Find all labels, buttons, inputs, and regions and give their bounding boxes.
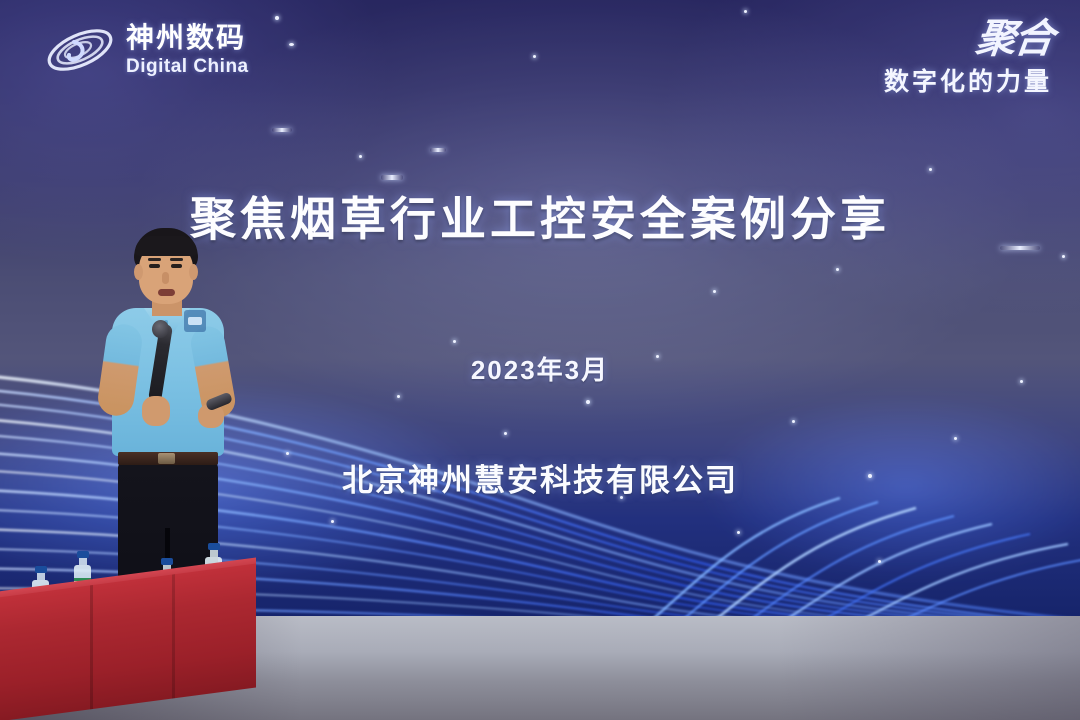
hair-front [135, 236, 197, 256]
right-eye [171, 264, 182, 268]
event-calligraphy: 聚合 [882, 20, 1055, 58]
nose [162, 272, 169, 284]
belt-buckle [158, 453, 175, 464]
conference-stage-photo: 神州数码 Digital China 聚合 数字化的力量 聚焦烟草行业工控安全案… [0, 0, 1080, 720]
event-logo: 聚合 数字化的力量 [884, 20, 1052, 98]
left-eyebrow [148, 258, 161, 261]
tablecloth-fold [90, 585, 93, 709]
mouth [158, 289, 175, 296]
brand-name-cn: 神州数码 [126, 24, 249, 52]
event-tagline: 数字化的力量 [884, 62, 1052, 98]
left-ear [134, 264, 143, 280]
shirt-logo [184, 310, 206, 332]
right-eyebrow [170, 258, 183, 261]
tablecloth-fold [172, 574, 175, 698]
brand-name-en: Digital China [126, 57, 249, 76]
right-ear [189, 264, 198, 280]
left-eye [149, 264, 160, 268]
left-hand [142, 396, 170, 426]
digital-china-logo: 神州数码 Digital China [44, 22, 249, 78]
swirl-logo-icon [44, 22, 116, 78]
